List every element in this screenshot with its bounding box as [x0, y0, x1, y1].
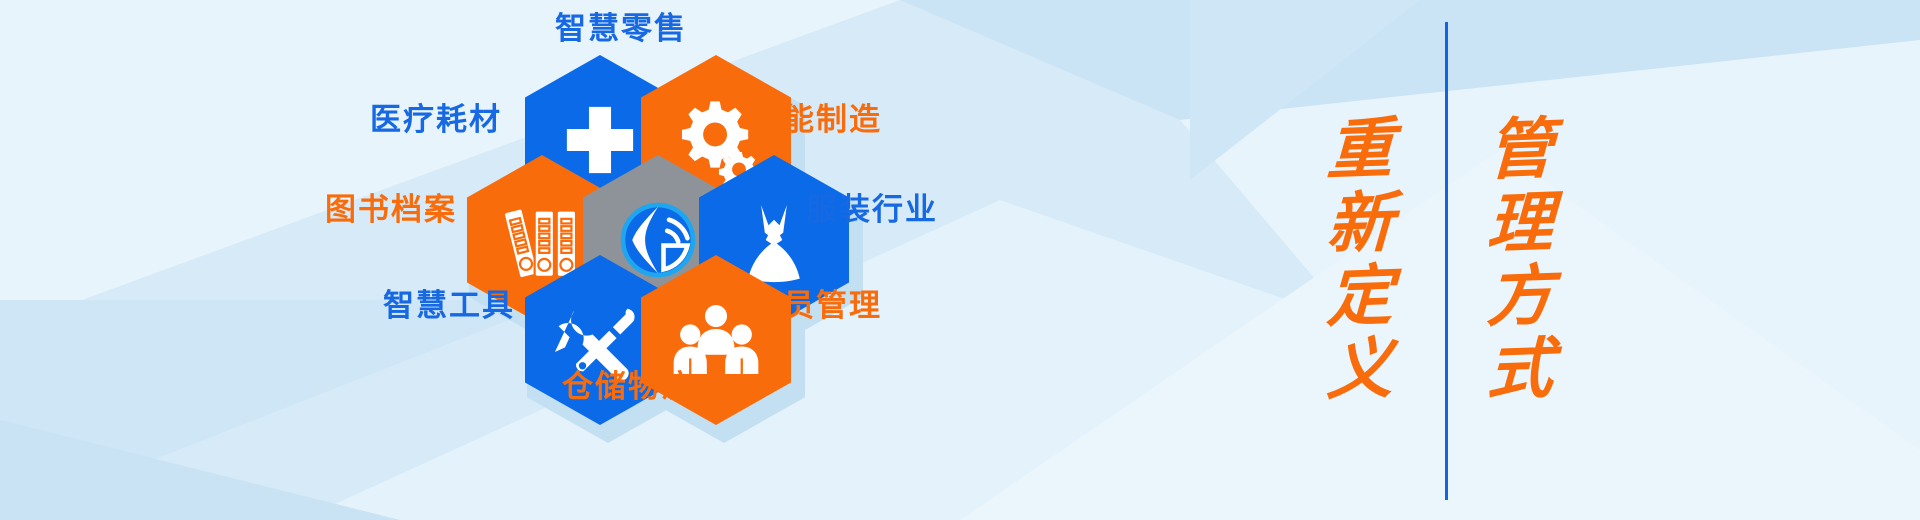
hexagon-cluster: 医疗耗材 智慧零售 智能制造 图书档案 服装行业 智慧工具 人员管理 仓储物流 — [0, 0, 1300, 520]
promo-banner: 医疗耗材 智慧零售 智能制造 图书档案 服装行业 智慧工具 人员管理 仓储物流 … — [0, 0, 1920, 520]
slogan-char: 方 — [1486, 262, 1554, 332]
label-tools: 智慧工具 — [383, 291, 515, 322]
slogan-column-left: 重 新 定 义 — [1300, 0, 1420, 520]
label-apparel: 服装行业 — [806, 195, 938, 226]
slogan-column-right: 管 理 方 式 — [1460, 0, 1580, 520]
slogan-block: 重 新 定 义 管 理 方 式 — [1290, 0, 1620, 520]
label-warehouse: 仓储物流 — [562, 372, 694, 403]
slogan-char: 式 — [1486, 335, 1554, 405]
label-manufacturing: 智能制造 — [750, 105, 882, 136]
slogan-char: 定 — [1326, 262, 1394, 332]
slogan-char: 理 — [1486, 189, 1554, 259]
slogan-char: 重 — [1326, 115, 1394, 185]
label-retail: 智慧零售 — [555, 14, 687, 45]
label-personnel: 人员管理 — [750, 291, 882, 322]
slogan-divider — [1445, 22, 1448, 500]
label-library: 图书档案 — [325, 195, 457, 226]
slogan-char: 新 — [1326, 189, 1394, 259]
slogan-char: 义 — [1326, 335, 1394, 405]
label-medical: 医疗耗材 — [370, 105, 502, 136]
slogan-char: 管 — [1486, 115, 1554, 185]
